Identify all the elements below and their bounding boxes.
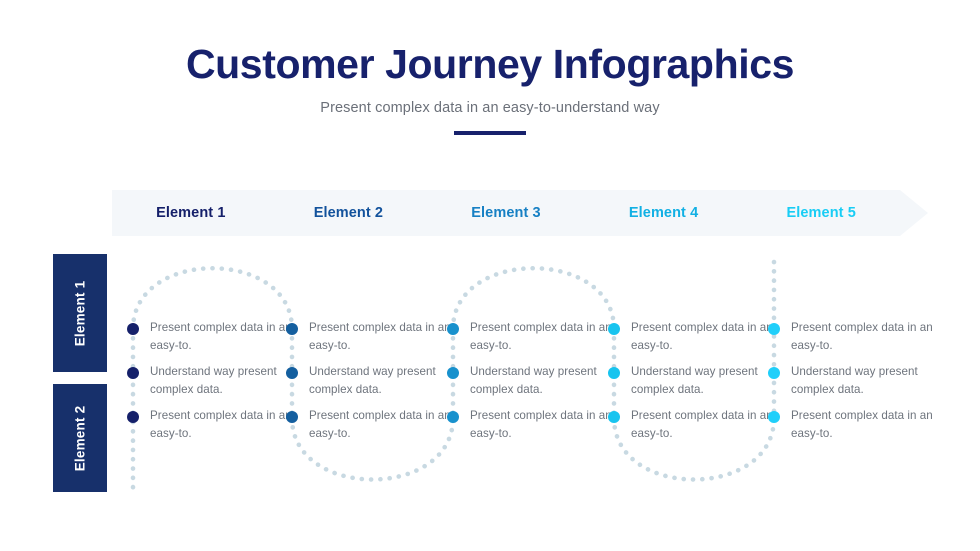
title-underline-rule [454, 131, 526, 135]
list-item: Present complex data in an easy-to. [286, 318, 454, 362]
bullet-text: Understand way present complex data. [791, 365, 918, 396]
list-item: Present complex data in an easy-to. [608, 406, 776, 450]
list-item: Understand way present complex data. [768, 362, 936, 406]
bullet-dot-icon [127, 367, 139, 379]
side-tab-label: Element 2 [73, 405, 88, 471]
page-subtitle: Present complex data in an easy-to-under… [0, 100, 980, 116]
list-item: Present complex data in an easy-to. [608, 318, 776, 362]
list-item: Understand way present complex data. [286, 362, 454, 406]
side-tab-element-2[interactable]: Element 2 [53, 384, 107, 492]
bullet-text: Present complex data in an easy-to. [309, 409, 451, 440]
step-label-element-3[interactable]: Element 3 [427, 205, 585, 221]
bullet-dot-icon [447, 411, 459, 423]
bullet-dot-icon [768, 323, 780, 335]
step-arrow-labels: Element 1 Element 2 Element 3 Element 4 … [112, 190, 900, 236]
bullet-text: Present complex data in an easy-to. [470, 321, 612, 352]
bullet-dot-icon [447, 323, 459, 335]
title-block: Customer Journey Infographics Present co… [0, 42, 980, 116]
bullet-text: Present complex data in an easy-to. [470, 409, 612, 440]
list-item: Understand way present complex data. [608, 362, 776, 406]
bullet-text: Present complex data in an easy-to. [150, 321, 292, 352]
list-item: Present complex data in an easy-to. [127, 318, 295, 362]
bullet-dot-icon [768, 411, 780, 423]
journey-column-4: Present complex data in an easy-to. Unde… [608, 318, 776, 450]
bullet-dot-icon [127, 323, 139, 335]
bullet-dot-icon [447, 367, 459, 379]
bullet-text: Present complex data in an easy-to. [791, 321, 933, 352]
infographic-slide: Customer Journey Infographics Present co… [0, 0, 980, 551]
bullet-dot-icon [127, 411, 139, 423]
page-title: Customer Journey Infographics [0, 42, 980, 86]
bullet-text: Understand way present complex data. [309, 365, 436, 396]
bullet-text: Understand way present complex data. [470, 365, 597, 396]
bullet-dot-icon [608, 323, 620, 335]
journey-column-1: Present complex data in an easy-to. Unde… [127, 318, 295, 450]
bullet-dot-icon [286, 367, 298, 379]
bullet-text: Present complex data in an easy-to. [631, 321, 773, 352]
bullet-dot-icon [608, 367, 620, 379]
bullet-text: Understand way present complex data. [150, 365, 277, 396]
step-label-element-1[interactable]: Element 1 [112, 205, 270, 221]
journey-column-2: Present complex data in an easy-to. Unde… [286, 318, 454, 450]
list-item: Present complex data in an easy-to. [286, 406, 454, 450]
bullet-dot-icon [608, 411, 620, 423]
bullet-text: Present complex data in an easy-to. [150, 409, 292, 440]
journey-column-3: Present complex data in an easy-to. Unde… [447, 318, 615, 450]
step-label-element-2[interactable]: Element 2 [270, 205, 428, 221]
step-label-element-5[interactable]: Element 5 [742, 205, 900, 221]
list-item: Understand way present complex data. [127, 362, 295, 406]
journey-column-5: Present complex data in an easy-to. Unde… [768, 318, 936, 450]
list-item: Present complex data in an easy-to. [447, 406, 615, 450]
side-tab-element-1[interactable]: Element 1 [53, 254, 107, 372]
bullet-dot-icon [286, 323, 298, 335]
side-tab-label: Element 1 [73, 280, 88, 346]
bullet-dot-icon [768, 367, 780, 379]
bullet-text: Present complex data in an easy-to. [791, 409, 933, 440]
bullet-dot-icon [286, 411, 298, 423]
step-label-element-4[interactable]: Element 4 [585, 205, 743, 221]
bullet-text: Present complex data in an easy-to. [309, 321, 451, 352]
list-item: Present complex data in an easy-to. [768, 318, 936, 362]
list-item: Present complex data in an easy-to. [127, 406, 295, 450]
list-item: Present complex data in an easy-to. [447, 318, 615, 362]
list-item: Present complex data in an easy-to. [768, 406, 936, 450]
list-item: Understand way present complex data. [447, 362, 615, 406]
bullet-text: Understand way present complex data. [631, 365, 758, 396]
bullet-text: Present complex data in an easy-to. [631, 409, 773, 440]
